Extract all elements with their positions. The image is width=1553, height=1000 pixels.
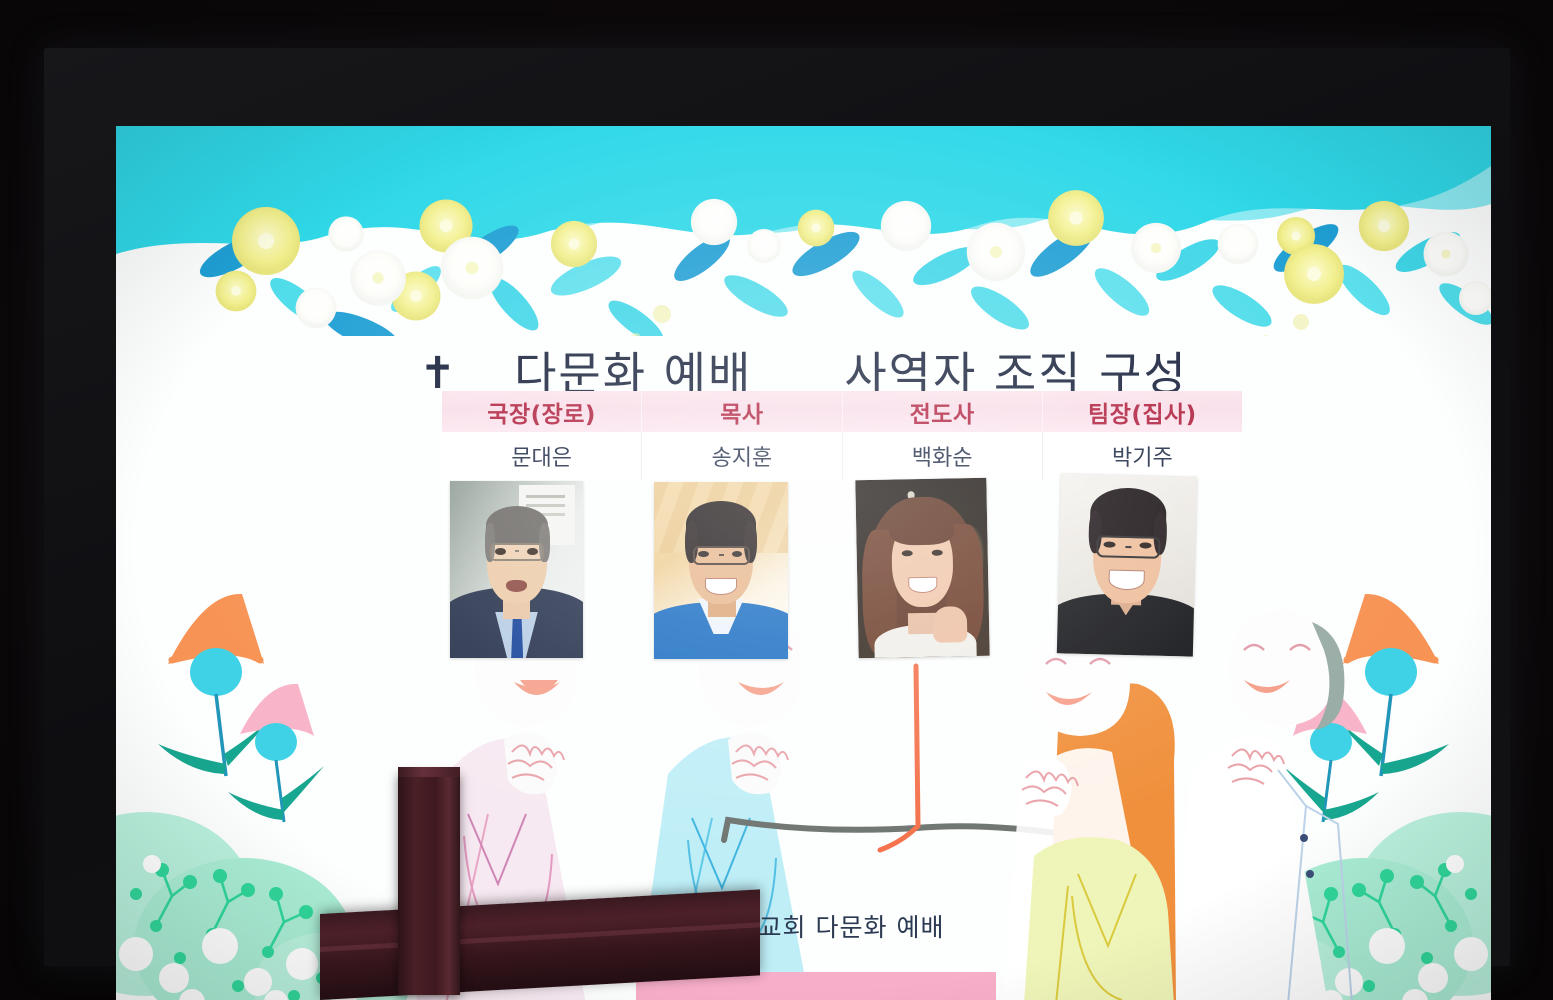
- table-name-cell-evangelist: 백화순: [843, 432, 1043, 480]
- table-name-cell-pastor: 송지훈: [642, 432, 842, 480]
- table-header-row: 국장(장로) 목사 전도사 팀장(집사): [442, 391, 1242, 432]
- portrait-photo-director: [450, 481, 583, 658]
- portrait-photo-evangelist: [855, 478, 989, 658]
- display-bezel: ✝ 다문화 예배 사역자 조직 구성: [44, 48, 1510, 966]
- portrait-photo-row: [442, 481, 1242, 671]
- floral-top-decoration: [116, 126, 1491, 336]
- cross-vertical-post: [398, 773, 460, 995]
- table-name-row: 문대은 송지훈 백화순 박기주: [442, 432, 1242, 480]
- table-header-cell-teamleader: 팀장(집사): [1043, 391, 1242, 432]
- room-background: ✝ 다문화 예배 사역자 조직 구성: [0, 0, 1553, 1000]
- table-name-cell-director: 문대은: [442, 432, 642, 480]
- foreground-wooden-cross: [330, 755, 750, 1000]
- ministry-organization-table: 국장(장로) 목사 전도사 팀장(집사) 문대은 송지훈 백화순 박기주: [442, 391, 1242, 480]
- portrait-photo-pastor: [654, 482, 788, 659]
- display-screen: ✝ 다문화 예배 사역자 조직 구성: [116, 126, 1491, 1000]
- table-header-cell-evangelist: 전도사: [843, 391, 1043, 432]
- portrait-photo-teamleader: [1057, 473, 1197, 656]
- table-header-cell-director: 국장(장로): [442, 391, 642, 432]
- table-header-cell-pastor: 목사: [642, 391, 842, 432]
- presentation-slide: ✝ 다문화 예배 사역자 조직 구성: [116, 126, 1491, 1000]
- cross-post-top: [398, 767, 460, 777]
- cross-icon: ✝: [419, 352, 456, 396]
